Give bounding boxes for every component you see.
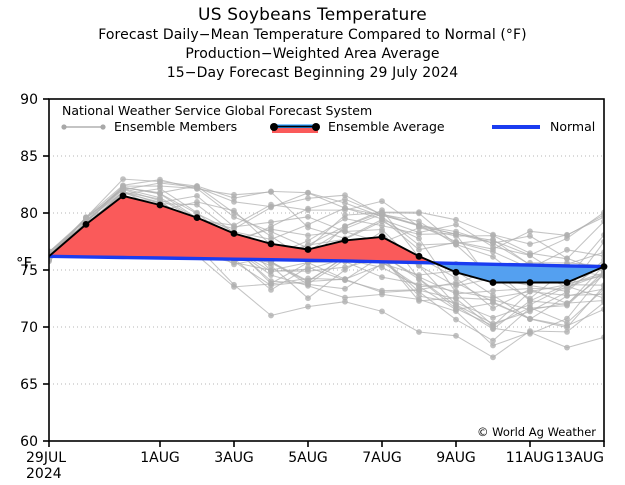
legend-item-ensemble-members: Ensemble Members [61, 119, 237, 134]
x-axis-ticks: 29JUL1AUG3AUG5AUG7AUG9AUG11AUG13AUG [26, 441, 604, 466]
ensemble-member-point [305, 195, 311, 201]
ensemble-member-point [231, 223, 237, 229]
ensemble-member-point [527, 298, 533, 304]
ensemble-member-point [305, 266, 311, 272]
ensemble-member-point [564, 316, 570, 322]
ensemble-member-point [342, 295, 348, 301]
ensemble-average-point [157, 202, 164, 209]
y-tick-label: 85 [20, 149, 38, 165]
ensemble-member-point [342, 229, 348, 235]
ensemble-member-point [305, 283, 311, 289]
ensemble-member-point [416, 329, 422, 335]
ensemble-member-point [305, 190, 311, 196]
ensemble-member-point [453, 317, 459, 323]
ensemble-member-point [416, 287, 422, 293]
ensemble-member-point [416, 219, 422, 225]
ensemble-average-point [453, 269, 460, 276]
ensemble-member-point [120, 176, 126, 182]
ensemble-member-point [527, 307, 533, 313]
ensemble-member-point [416, 224, 422, 230]
ensemble-member-point [305, 214, 311, 220]
ensemble-average-point [564, 279, 571, 286]
legend-item-normal: Normal [492, 119, 595, 134]
ensemble-member-point [416, 230, 422, 236]
ensemble-member-point [342, 286, 348, 292]
ensemble-member-point [342, 276, 348, 282]
ensemble-member-point [564, 255, 570, 261]
credit-text: © World Ag Weather [477, 425, 596, 439]
ensemble-member-point [231, 214, 237, 220]
ensemble-member-point [527, 329, 533, 335]
x-tick-label: 29JUL [26, 450, 66, 466]
ensemble-average-point [416, 253, 423, 260]
chart-canvas: 60657075808590 29JUL1AUG3AUG5AUG7AUG9AUG… [0, 0, 625, 485]
ensemble-member-point [490, 237, 496, 243]
legend-item-ensemble-average: Ensemble Average [270, 119, 445, 134]
ensemble-member-point [305, 295, 311, 301]
ensemble-member-point [342, 267, 348, 273]
ensemble-member-point [379, 217, 385, 223]
ensemble-member-point [564, 289, 570, 295]
ensemble-member-point [564, 345, 570, 351]
ensemble-member-point [490, 315, 496, 321]
ensemble-member-point [527, 316, 533, 322]
ensemble-member-point [490, 288, 496, 294]
ensemble-member-point [379, 292, 385, 298]
ensemble-average-point [194, 214, 201, 221]
x-tick-label: 5AUG [288, 450, 328, 466]
y-axis-label: °F [16, 254, 32, 272]
ensemble-member-point [453, 231, 459, 237]
ensemble-member-point [490, 321, 496, 327]
ensemble-member-point [453, 283, 459, 289]
chart-legend: National Weather Service Global Forecast… [61, 103, 595, 134]
ensemble-member-point [268, 268, 274, 274]
x-tick-label: 13AUG [556, 450, 605, 466]
ensemble-member-point [490, 354, 496, 360]
y-tick-label: 70 [20, 320, 38, 336]
x-tick-label: 7AUG [362, 450, 402, 466]
legend-label-ensemble-members: Ensemble Members [114, 119, 237, 134]
y-tick-label: 80 [20, 206, 38, 222]
ensemble-member-point [453, 275, 459, 281]
legend-source-note: National Weather Service Global Forecast… [62, 103, 372, 118]
ensemble-member-point [305, 304, 311, 310]
ensemble-member-point [157, 196, 163, 202]
ensemble-member-point [231, 192, 237, 198]
ensemble-member-point [120, 182, 126, 188]
ensemble-member-point [231, 284, 237, 290]
ensemble-member-point [83, 214, 89, 220]
ensemble-member-point [453, 333, 459, 339]
ensemble-average-point [490, 279, 497, 286]
ensemble-member-point [157, 190, 163, 196]
ensemble-member-point [379, 198, 385, 204]
ensemble-member-point [342, 200, 348, 206]
ensemble-average-point [83, 221, 90, 228]
y-tick-label: 65 [20, 377, 38, 393]
x-tick-label: 1AUG [140, 450, 180, 466]
legend-label-normal: Normal [550, 119, 595, 134]
ensemble-member-point [268, 281, 274, 287]
ensemble-member-point [490, 305, 496, 311]
ensemble-member-point [268, 229, 274, 235]
legend-label-ensemble-average: Ensemble Average [328, 119, 445, 134]
ensemble-average-point [305, 246, 312, 253]
ensemble-member-point [342, 212, 348, 218]
y-tick-label: 60 [20, 434, 38, 450]
ensemble-member-point [453, 308, 459, 314]
ensemble-average-point [379, 234, 386, 241]
ensemble-member-point [194, 193, 200, 199]
ensemble-member-point [453, 240, 459, 246]
ensemble-member-point [194, 199, 200, 205]
ensemble-member-point [490, 343, 496, 349]
ensemble-member-point [416, 242, 422, 248]
ensemble-member-point [527, 253, 533, 259]
meteogram-svg: 60657075808590 29JUL1AUG3AUG5AUG7AUG9AUG… [0, 0, 625, 485]
ensemble-member-point [416, 236, 422, 242]
x-tick-label: 9AUG [436, 450, 476, 466]
y-tick-label: 90 [20, 92, 38, 108]
x-tick-label: 11AUG [506, 450, 555, 466]
ensemble-member-point [527, 228, 533, 234]
ensemble-member-point [379, 309, 385, 315]
ensemble-member-point [157, 183, 163, 189]
ensemble-member-point [379, 227, 385, 233]
x-axis-year-label: 2024 [26, 466, 62, 482]
ensemble-member-point [490, 254, 496, 260]
x-tick-label: 3AUG [214, 450, 254, 466]
ensemble-member-point [305, 225, 311, 231]
ensemble-member-point [268, 189, 274, 195]
ensemble-member-point [268, 263, 274, 269]
ensemble-member-point [490, 297, 496, 303]
ensemble-member-point [564, 235, 570, 241]
ensemble-member-point [453, 222, 459, 228]
ensemble-average-point [342, 237, 349, 244]
ensemble-average-point [268, 240, 275, 247]
ensemble-member-point [305, 233, 311, 239]
ensemble-member-point [564, 247, 570, 253]
ensemble-member-point [416, 298, 422, 304]
ensemble-member-point [342, 223, 348, 229]
ensemble-average-point [120, 193, 127, 200]
ensemble-member-point [305, 207, 311, 213]
ensemble-member-point [268, 313, 274, 319]
ensemble-member-point [453, 302, 459, 308]
ensemble-member-point [527, 241, 533, 247]
ensemble-member-point [564, 300, 570, 306]
ensemble-member-point [157, 177, 163, 183]
ensemble-member-point [453, 295, 459, 301]
ensemble-member-point [342, 207, 348, 213]
ensemble-member-point [416, 210, 422, 216]
ensemble-member-point [416, 274, 422, 280]
ensemble-member-point [564, 323, 570, 329]
ensemble-average-point [527, 279, 534, 286]
ensemble-member-point [194, 186, 200, 192]
ensemble-member-point [268, 202, 274, 208]
ensemble-member-point [379, 274, 385, 280]
ensemble-member-point [490, 244, 496, 250]
ensemble-average-point [231, 230, 238, 237]
